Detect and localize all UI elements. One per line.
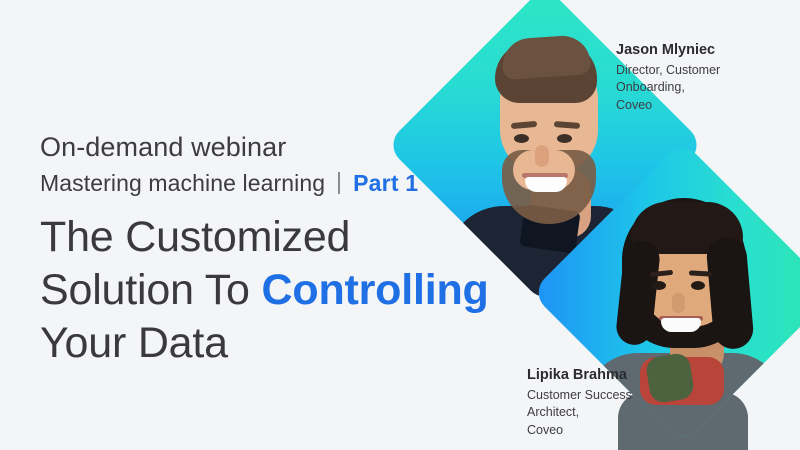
- speaker-name: Jason Mlyniec: [616, 41, 720, 61]
- page-title: The Customized Solution To Controlling Y…: [40, 211, 580, 371]
- speaker-role-line-2: Architect,: [527, 404, 632, 422]
- speaker-name: Lipika Brahma: [527, 366, 632, 386]
- webinar-promo-banner: On-demand webinar Mastering machine lear…: [0, 0, 800, 450]
- hair-highlight: [501, 33, 592, 79]
- speaker-role-line-2: Onboarding,: [616, 79, 720, 97]
- smile-teeth: [661, 318, 701, 332]
- eye-right: [691, 281, 705, 290]
- speaker-role: Customer Success Architect, Coveo: [527, 387, 632, 440]
- headline-line-2-prefix: Solution To: [40, 266, 262, 314]
- headline-line-3: Your Data: [40, 317, 580, 370]
- series-title: Mastering machine learning: [40, 170, 325, 197]
- scarf-fold: [645, 352, 696, 404]
- nose: [672, 293, 685, 313]
- part-badge: Part 1: [353, 170, 418, 197]
- speaker-role: Director, Customer Onboarding, Coveo: [616, 62, 720, 115]
- speaker-role-line-1: Customer Success: [527, 387, 632, 405]
- headline-copy-block: On-demand webinar Mastering machine lear…: [40, 132, 580, 371]
- eyebrow-label: On-demand webinar: [40, 132, 580, 164]
- hair-right: [706, 235, 756, 350]
- speaker-caption-jason: Jason Mlyniec Director, Customer Onboard…: [616, 41, 720, 115]
- speaker-role-line-3: Coveo: [527, 422, 632, 440]
- vertical-divider: [338, 172, 340, 194]
- speaker-role-line-3: Coveo: [616, 97, 720, 115]
- speaker-role-line-1: Director, Customer: [616, 62, 720, 80]
- headline-line-2: Solution To Controlling: [40, 264, 580, 317]
- speaker-caption-lipika: Lipika Brahma Customer Success Architect…: [527, 366, 632, 440]
- series-row: Mastering machine learning Part 1: [40, 169, 580, 197]
- headline-line-1: The Customized: [40, 211, 580, 264]
- eye-left: [652, 281, 666, 290]
- headline-accent-word: Controlling: [262, 266, 489, 314]
